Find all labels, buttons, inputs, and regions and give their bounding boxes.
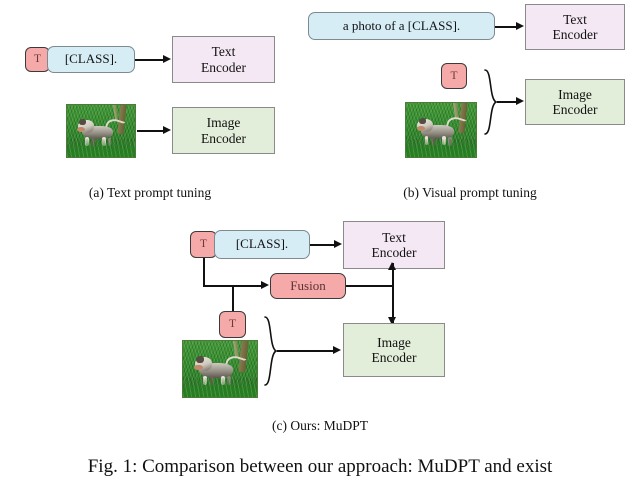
image-encoder-box[interactable]: Image Encoder	[525, 79, 625, 125]
photo-foreground-grass	[67, 139, 135, 157]
text-encoder-line1: Text	[212, 44, 236, 59]
token-badge-visual[interactable]: T	[441, 63, 467, 89]
photo-dog-ear	[196, 356, 203, 363]
panel-c-caption: (c) Ours: MuDPT	[0, 418, 640, 434]
image-encoder-line1: Image	[207, 115, 241, 130]
prompt-box-label: [CLASS].	[65, 52, 117, 67]
image-encoder-line2: Encoder	[372, 350, 417, 365]
arrowhead-brace-to-image-encoder	[516, 97, 524, 105]
photo-foreground-grass	[183, 378, 257, 397]
text-encoder-line1: Text	[382, 230, 406, 245]
fusion-label: Fusion	[290, 279, 325, 294]
prompt-box-full-sentence[interactable]: a photo of a [CLASS].	[308, 12, 495, 40]
connector-image-to-image-encoder	[137, 130, 165, 132]
photo-foreground-grass	[406, 139, 476, 157]
photo-dog-snout	[417, 126, 425, 131]
prompt-box-class[interactable]: [CLASS].	[47, 46, 135, 73]
prompt-box-class[interactable]: [CLASS].	[214, 230, 310, 259]
token-badge-label: T	[450, 70, 457, 83]
figure-root: T [CLASS]. Text Encoder	[0, 0, 640, 476]
connector-prompt-to-text-encoder	[495, 26, 518, 28]
connector-text-token-down	[203, 258, 205, 286]
panel-a-caption: (a) Text prompt tuning	[0, 185, 300, 201]
text-encoder-box[interactable]: Text Encoder	[172, 36, 275, 83]
input-image-thumbnail	[405, 102, 477, 158]
input-image-thumbnail	[66, 104, 136, 158]
input-image-thumbnail	[182, 340, 258, 398]
image-encoder-line2: Encoder	[553, 102, 598, 117]
token-badge-label: T	[229, 318, 236, 331]
token-badge-label: T	[34, 53, 41, 66]
text-encoder-line2: Encoder	[372, 245, 417, 260]
arrowhead-prompt-to-text-encoder	[516, 22, 524, 30]
arrowhead-tokens-to-fusion	[261, 281, 269, 289]
text-encoder-line2: Encoder	[553, 27, 598, 42]
text-encoder-box[interactable]: Text Encoder	[525, 4, 625, 50]
figure-caption: Fig. 1: Comparison between our approach:…	[0, 456, 640, 478]
image-encoder-line1: Image	[558, 87, 592, 102]
connector-image-token-up	[232, 285, 234, 312]
connector-fusion-output	[346, 285, 394, 287]
fusion-box[interactable]: Fusion	[270, 273, 346, 299]
image-encoder-box[interactable]: Image Encoder	[172, 107, 275, 154]
arrowhead-brace-to-image-encoder	[333, 346, 341, 354]
prompt-box-full-sentence-label: a photo of a [CLASS].	[343, 19, 460, 34]
token-badge-label: T	[200, 238, 207, 251]
text-encoder-line1: Text	[563, 12, 587, 27]
photo-dog-ear	[419, 118, 426, 124]
connector-prompt-to-text-encoder	[310, 244, 336, 246]
panel-text-prompt-tuning: T [CLASS]. Text Encoder	[0, 0, 300, 205]
image-encoder-line1: Image	[377, 335, 411, 350]
text-encoder-line2: Encoder	[201, 60, 246, 75]
arrowhead-fusion-to-text-encoder	[388, 262, 396, 270]
image-encoder-line2: Encoder	[201, 131, 246, 146]
arrowhead-prompt-to-text-encoder	[334, 240, 342, 248]
prompt-box-label: [CLASS].	[236, 237, 288, 252]
token-badge-text[interactable]: T	[190, 231, 217, 258]
token-badge-visual[interactable]: T	[219, 311, 246, 338]
panel-ours-mudpt: T [CLASS]. Text Encoder Fusion	[0, 205, 640, 435]
arrowhead-prompt-to-text-encoder	[163, 55, 171, 63]
panel-visual-prompt-tuning: a photo of a [CLASS]. Text Encoder T	[300, 0, 640, 205]
photo-dog-snout	[194, 365, 203, 371]
panel-b-caption: (b) Visual prompt tuning	[320, 185, 620, 201]
connector-brace-to-image-encoder	[277, 350, 335, 352]
image-encoder-box[interactable]: Image Encoder	[343, 323, 445, 377]
arrowhead-image-to-image-encoder	[163, 126, 171, 134]
connector-prompt-to-text-encoder	[135, 59, 165, 61]
connector-fusion-vertical	[392, 263, 394, 323]
